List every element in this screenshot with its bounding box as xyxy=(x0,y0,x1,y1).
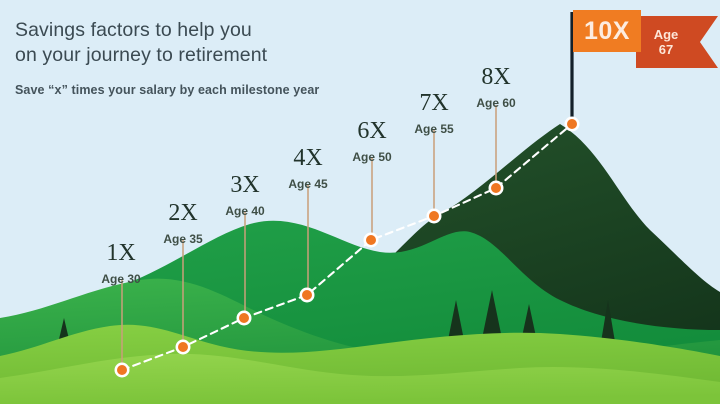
flag-age-value: 67 xyxy=(659,42,673,57)
page-subtitle: Save “x” times your salary by each miles… xyxy=(15,82,445,98)
milestone-multiple: 7X xyxy=(419,90,448,117)
milestone-multiple: 3X xyxy=(230,172,259,199)
milestone-age: Age 45 xyxy=(288,177,327,191)
flag-age-label: Age xyxy=(654,27,679,42)
infographic-canvas: Savings factors to help you on your jour… xyxy=(0,0,720,404)
title-line-2: on your journey to retirement xyxy=(15,43,415,68)
flag-multiple-badge: 10X xyxy=(573,10,641,52)
milestone-multiple: 1X xyxy=(106,240,135,267)
milestone-age: Age 60 xyxy=(476,96,515,110)
milestone-multiple: 2X xyxy=(168,200,197,227)
milestone-age: Age 35 xyxy=(163,232,202,246)
milestone-age: Age 40 xyxy=(225,204,264,218)
title-line-1: Savings factors to help you xyxy=(15,18,415,43)
page-title: Savings factors to help you on your jour… xyxy=(15,18,415,68)
milestone-age: Age 50 xyxy=(352,150,391,164)
milestone-multiple: 6X xyxy=(357,118,386,145)
milestone-multiple: 4X xyxy=(293,145,322,172)
milestone-age: Age 30 xyxy=(101,272,140,286)
milestone-age: Age 55 xyxy=(414,122,453,136)
milestone-multiple: 8X xyxy=(481,64,510,91)
